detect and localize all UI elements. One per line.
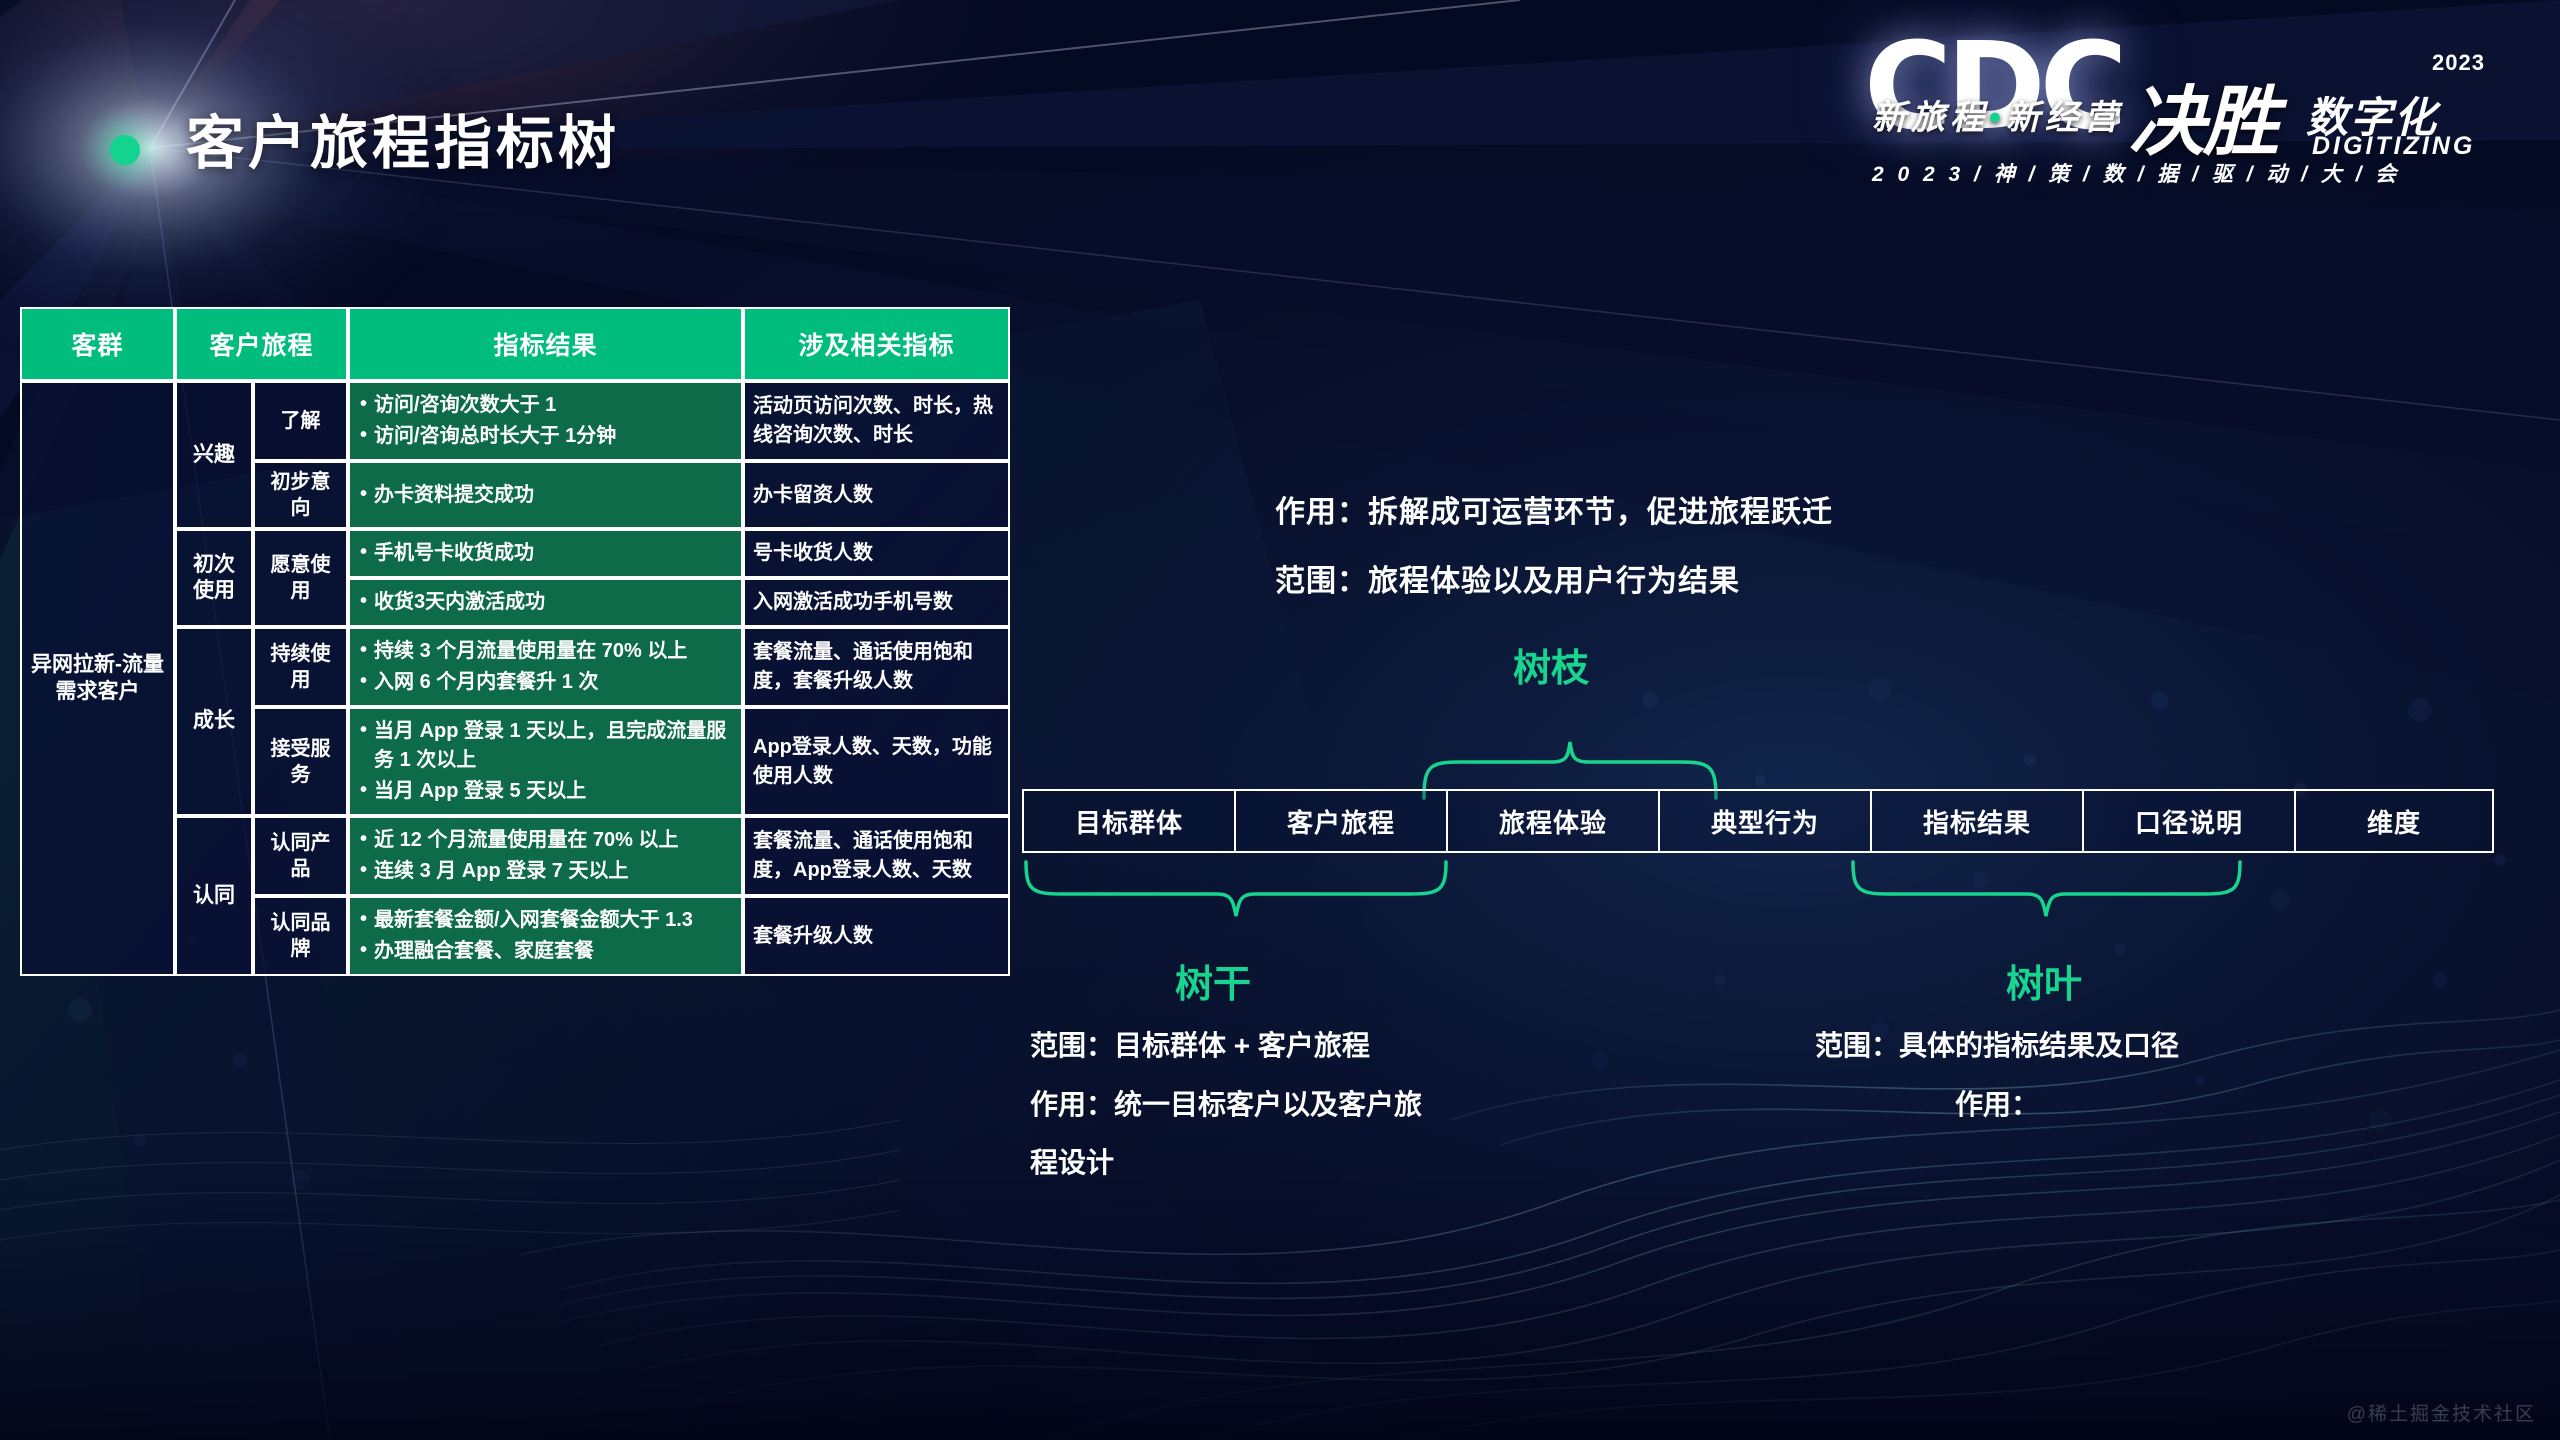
result-item: 访问/咨询总时长大于 1分钟 bbox=[358, 422, 733, 451]
leaf-description: 范围：具体的指标结果及口径 作用： bbox=[1815, 1026, 2179, 1125]
table-head: 客群 客户旅程 指标结果 涉及相关指标 bbox=[20, 307, 1010, 381]
branch-label-trunk: 树干 bbox=[1175, 953, 1251, 1008]
branch-label-leaf: 树叶 bbox=[2006, 953, 2082, 1008]
journey-metric-table: 客群 客户旅程 指标结果 涉及相关指标 异网拉新-流量需求客户 兴趣 了解 访问… bbox=[20, 307, 1010, 976]
result-item: 当月 App 登录 5 天以上 bbox=[358, 777, 733, 806]
result-cell: 持续 3 个月流量使用量在 70% 以上 入网 6 个月内套餐升 1 次 bbox=[348, 627, 743, 707]
table-header-row: 客群 客户旅程 指标结果 涉及相关指标 bbox=[20, 307, 1010, 381]
result-list: 访问/咨询次数大于 1 访问/咨询总时长大于 1分钟 bbox=[358, 391, 733, 451]
result-item: 近 12 个月流量使用量在 70% 以上 bbox=[358, 826, 733, 855]
stage-cell: 持续使用 bbox=[253, 627, 348, 707]
logo-tagline-right: 新经营 bbox=[2006, 99, 2123, 137]
result-list: 当月 App 登录 1 天以上，且完成流量服务 1 次以上 当月 App 登录 … bbox=[358, 717, 733, 806]
logo-digitizing: DIGITIZING bbox=[2312, 132, 2475, 161]
result-list: 收货3天内激活成功 bbox=[358, 588, 733, 617]
leaf-brace bbox=[1849, 858, 2244, 920]
result-item: 手机号卡收货成功 bbox=[358, 539, 733, 568]
table-body: 异网拉新-流量需求客户 兴趣 了解 访问/咨询次数大于 1 访问/咨询总时长大于… bbox=[20, 381, 1010, 976]
result-item: 当月 App 登录 1 天以上，且完成流量服务 1 次以上 bbox=[358, 717, 733, 775]
box-customer-journey[interactable]: 客户旅程 bbox=[1234, 789, 1448, 853]
related-cell: App登录人数、天数，功能使用人数 bbox=[743, 707, 1010, 816]
branch-label-branch: 树枝 bbox=[1513, 637, 1589, 692]
group-cell-first-use: 初次使用 bbox=[175, 529, 253, 627]
result-cell: 收货3天内激活成功 bbox=[348, 578, 743, 627]
result-item: 办卡资料提交成功 bbox=[358, 481, 733, 510]
stage-cell: 接受服务 bbox=[253, 707, 348, 816]
result-item: 办理融合套餐、家庭套餐 bbox=[358, 937, 733, 966]
panel-effect-line: 作用：拆解成可运营环节，促进旅程跃迁 bbox=[1275, 487, 1833, 531]
leaf-scope: 范围：具体的指标结果及口径 bbox=[1815, 1026, 2179, 1067]
trunk-brace bbox=[1022, 858, 1450, 920]
trunk-effect-2: 程设计 bbox=[1030, 1143, 1422, 1184]
page-title: 客户旅程指标树 bbox=[186, 96, 620, 180]
result-list: 手机号卡收货成功 bbox=[358, 539, 733, 568]
result-item: 收货3天内激活成功 bbox=[358, 588, 733, 617]
table-row: 异网拉新-流量需求客户 兴趣 了解 访问/咨询次数大于 1 访问/咨询总时长大于… bbox=[20, 381, 1010, 461]
result-item: 入网 6 个月内套餐升 1 次 bbox=[358, 668, 733, 697]
result-cell: 最新套餐金额/入网套餐金额大于 1.3 办理融合套餐、家庭套餐 bbox=[348, 896, 743, 976]
related-cell: 号卡收货人数 bbox=[743, 529, 1010, 578]
result-item: 连续 3 月 App 登录 7 天以上 bbox=[358, 857, 733, 886]
stage-cell: 愿意使用 bbox=[253, 529, 348, 627]
related-cell: 活动页访问次数、时长，热线咨询次数、时长 bbox=[743, 381, 1010, 461]
logo-tagline: 新旅程•新经营 bbox=[1872, 90, 2123, 139]
col-header-journey: 客户旅程 bbox=[175, 307, 348, 381]
logo-separator-dot: • bbox=[1989, 99, 2006, 137]
trunk-description: 范围：目标群体 + 客户旅程 作用：统一目标客户以及客户旅 程设计 bbox=[1030, 1026, 1422, 1184]
box-journey-experience[interactable]: 旅程体验 bbox=[1446, 789, 1660, 853]
logo-tagline-left: 新旅程 bbox=[1872, 99, 1989, 137]
logo-subline: 2 0 2 3 / 神 / 策 / 数 / 据 / 驱 / 动 / 大 / 会 bbox=[1872, 158, 2400, 188]
box-definition[interactable]: 口径说明 bbox=[2082, 789, 2296, 853]
col-header-result: 指标结果 bbox=[348, 307, 743, 381]
result-cell: 当月 App 登录 1 天以上，且完成流量服务 1 次以上 当月 App 登录 … bbox=[348, 707, 743, 816]
result-list: 办卡资料提交成功 bbox=[358, 481, 733, 510]
col-header-segment: 客群 bbox=[20, 307, 175, 381]
group-cell-identify: 认同 bbox=[175, 816, 253, 976]
stage-cell: 认同产品 bbox=[253, 816, 348, 896]
watermark: @稀土掘金技术社区 bbox=[2347, 1399, 2536, 1426]
trunk-scope: 范围：目标群体 + 客户旅程 bbox=[1030, 1026, 1422, 1067]
related-cell: 办卡留资人数 bbox=[743, 461, 1010, 529]
box-target-group[interactable]: 目标群体 bbox=[1022, 789, 1236, 853]
result-cell: 访问/咨询次数大于 1 访问/咨询总时长大于 1分钟 bbox=[348, 381, 743, 461]
box-metric-result[interactable]: 指标结果 bbox=[1870, 789, 2084, 853]
box-dimension[interactable]: 维度 bbox=[2294, 789, 2494, 853]
group-cell-growth: 成长 bbox=[175, 627, 253, 816]
result-item: 最新套餐金额/入网套餐金额大于 1.3 bbox=[358, 906, 733, 935]
result-cell: 办卡资料提交成功 bbox=[348, 461, 743, 529]
result-item: 持续 3 个月流量使用量在 70% 以上 bbox=[358, 637, 733, 666]
logo-year: 2023 bbox=[2432, 50, 2485, 76]
result-cell: 近 12 个月流量使用量在 70% 以上 连续 3 月 App 登录 7 天以上 bbox=[348, 816, 743, 896]
logo-juesheng: 决胜 bbox=[2129, 60, 2277, 170]
stage-cell: 认同品牌 bbox=[253, 896, 348, 976]
dimension-box-row: 目标群体 客户旅程 旅程体验 典型行为 指标结果 口径说明 维度 bbox=[1022, 789, 2492, 853]
group-cell-interest: 兴趣 bbox=[175, 381, 253, 529]
box-typical-behavior[interactable]: 典型行为 bbox=[1658, 789, 1872, 853]
segment-cell: 异网拉新-流量需求客户 bbox=[20, 381, 175, 976]
result-item: 访问/咨询次数大于 1 bbox=[358, 391, 733, 420]
col-header-related: 涉及相关指标 bbox=[743, 307, 1010, 381]
panel-scope-line: 范围：旅程体验以及用户行为结果 bbox=[1275, 556, 1740, 600]
result-list: 持续 3 个月流量使用量在 70% 以上 入网 6 个月内套餐升 1 次 bbox=[358, 637, 733, 697]
result-list: 最新套餐金额/入网套餐金额大于 1.3 办理融合套餐、家庭套餐 bbox=[358, 906, 733, 966]
result-list: 近 12 个月流量使用量在 70% 以上 连续 3 月 App 登录 7 天以上 bbox=[358, 826, 733, 886]
event-logo: CDC 新旅程•新经营 决胜 数字化 2023 DIGITIZING 2 0 2… bbox=[1854, 28, 2494, 178]
leaf-effect: 作用： bbox=[1815, 1085, 2179, 1126]
related-cell: 套餐流量、通话使用饱和度，App登录人数、天数 bbox=[743, 816, 1010, 896]
related-cell: 套餐流量、通话使用饱和度，套餐升级人数 bbox=[743, 627, 1010, 707]
stage-cell: 初步意向 bbox=[253, 461, 348, 529]
stage-cell: 了解 bbox=[253, 381, 348, 461]
related-cell: 入网激活成功手机号数 bbox=[743, 578, 1010, 627]
result-cell: 手机号卡收货成功 bbox=[348, 529, 743, 578]
trunk-effect-1: 作用：统一目标客户以及客户旅 bbox=[1030, 1085, 1422, 1126]
title-accent-dot bbox=[110, 135, 140, 165]
related-cell: 套餐升级人数 bbox=[743, 896, 1010, 976]
